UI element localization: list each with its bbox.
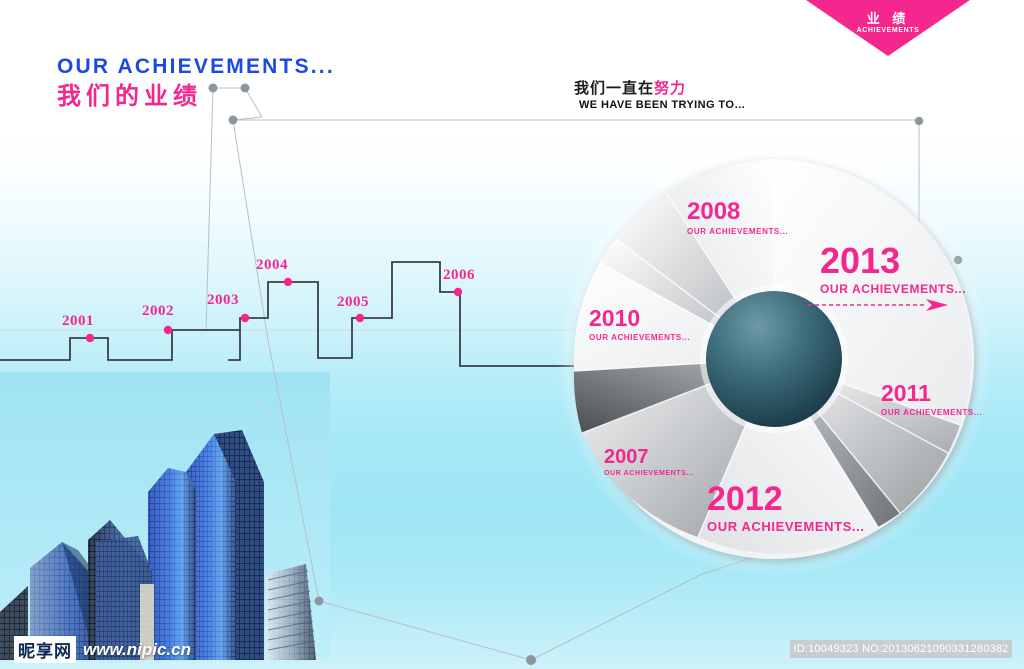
year-dot-2005: [356, 314, 364, 322]
donut-hub: [706, 291, 842, 427]
donut-label-2010: 2010 OUR ACHIEVEMENTS...: [589, 307, 690, 342]
caption-block: 我们一直在努力 WE HAVE BEEN TRYING TO…: [574, 79, 746, 111]
achievements-badge: 业 绩 ACHIEVEMENTS: [806, 0, 970, 60]
year-label-2003: 2003: [207, 292, 239, 309]
donut-label-2013: 2013 OUR ACHIEVEMENTS...: [820, 243, 966, 296]
dashed-arrow-icon: [808, 299, 948, 311]
year-dot-2003: [241, 314, 249, 322]
year-label-2005: 2005: [337, 294, 369, 311]
site-watermark: 昵享网 www.nipic.cn: [14, 636, 191, 663]
title-english: OUR ACHIEVEMENTS...: [57, 56, 335, 78]
badge-chinese: 业 绩: [806, 8, 970, 27]
year-dot-2004: [284, 278, 292, 286]
caption-english: WE HAVE BEEN TRYING TO…: [579, 99, 746, 111]
badge-english: ACHIEVEMENTS: [806, 27, 970, 34]
caption-chinese: 我们一直在努力: [574, 79, 746, 97]
year-dot-2006: [454, 288, 462, 296]
donut-label-2007: 2007 OUR ACHIEVEMENTS...: [604, 447, 694, 477]
year-label-2002: 2002: [142, 303, 174, 320]
donut-label-2012: 2012 OUR ACHIEVEMENTS...: [707, 482, 865, 534]
year-label-2001: 2001: [62, 313, 94, 330]
year-label-2004: 2004: [256, 257, 288, 274]
title-chinese: 我们的业绩: [57, 83, 335, 109]
caption-chinese-highlight: 努力: [654, 79, 686, 97]
year-dot-2002: [164, 326, 172, 334]
image-id-bar: ID:10049323 NO:20130621090331280382: [790, 640, 1012, 658]
poster-canvas: 2001 2002 2003 2004 2005 2006: [0, 0, 1024, 669]
step-line: [0, 332, 240, 360]
caption-chinese-prefix: 我们一直在: [574, 79, 654, 97]
watermark-url: www.nipic.cn: [83, 640, 191, 660]
year-label-2006: 2006: [443, 267, 475, 284]
donut-label-2008: 2008 OUR ACHIEVEMENTS...: [687, 200, 788, 236]
page-title-block: OUR ACHIEVEMENTS... 我们的业绩: [57, 56, 335, 109]
watermark-chinese: 昵享网: [14, 636, 76, 663]
donut-label-2011: 2011 OUR ACHIEVEMENTS...: [881, 382, 982, 417]
year-dot-2001: [86, 334, 94, 342]
